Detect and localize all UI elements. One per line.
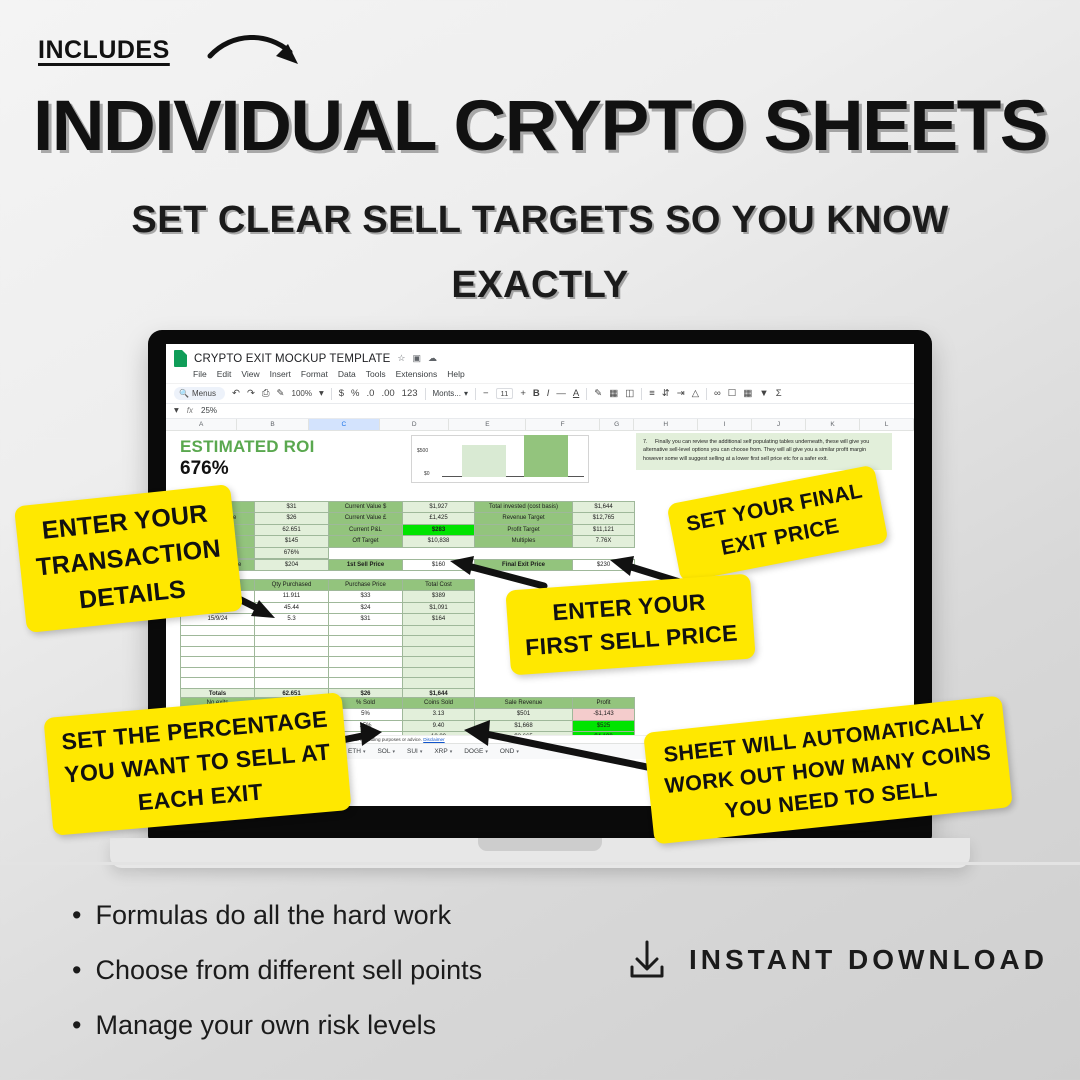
col-qty-purchased: Qty Purchased — [255, 579, 329, 591]
stat-value-multiples[interactable]: 7.76X — [573, 536, 635, 548]
menu-extensions[interactable]: Extensions — [396, 369, 438, 379]
tab-chevron-down-icon[interactable]: ▾ — [392, 749, 395, 755]
tx-cost-1: $389 — [403, 591, 475, 603]
exit-revenue-1: $501 — [475, 709, 573, 721]
column-header-h[interactable]: H — [634, 419, 698, 430]
column-header-a[interactable]: A — [166, 419, 237, 430]
tab-chevron-down-icon[interactable]: ▾ — [485, 749, 488, 755]
toolbar-divider — [331, 388, 332, 400]
toolbar-divider-2 — [425, 388, 426, 400]
col-profit: Profit — [573, 697, 635, 709]
menus-search-button[interactable]: 🔍 Menus — [174, 387, 225, 400]
col-total-cost: Total Cost — [403, 579, 475, 591]
stat-value-revenue-target[interactable]: $12,765 — [573, 513, 635, 525]
exit-coins-1: 3.13 — [403, 709, 475, 721]
functions-icon[interactable]: Σ — [776, 389, 782, 399]
decrease-decimal-icon[interactable]: .0 — [367, 389, 375, 399]
name-box-chevron-down-icon[interactable]: ▾ — [174, 406, 179, 416]
currency-icon[interactable]: $ — [339, 389, 344, 399]
instructions-note: 7. Finally you can review the additional… — [636, 433, 892, 471]
table-row[interactable]: Live Price $31 Current Value $ $1,927 To… — [181, 501, 635, 513]
stat-value-current-value-gbp[interactable]: £1,425 — [403, 513, 475, 525]
estimated-roi-value: 676% — [180, 458, 315, 480]
cloud-icon[interactable]: ☁ — [428, 353, 437, 364]
fx-icon: fx — [187, 406, 193, 415]
undo-icon[interactable]: ↶ — [232, 389, 240, 399]
download-icon — [625, 938, 669, 982]
menu-format[interactable]: Format — [301, 369, 328, 379]
stat-label-profit-target: Profit Target — [475, 524, 573, 536]
formula-input[interactable]: 25% — [201, 406, 217, 415]
toolbar-divider-4 — [586, 388, 587, 400]
paint-format-icon[interactable]: ✎ — [277, 389, 285, 399]
number-format-icon[interactable]: 123 — [402, 389, 418, 399]
stat-label-off-target: Off Target — [329, 536, 403, 548]
includes-row: INCLUDES — [38, 36, 438, 92]
laptop-notch — [478, 838, 602, 851]
average-sell-price-value[interactable]: $204 — [255, 559, 329, 571]
sheets-titlebar: CRYPTO EXIT MOCKUP TEMPLATE ☆ ▣ ☁ — [166, 344, 914, 368]
subtitle-line-1: SET CLEAR SELL TARGETS SO YOU KNOW EXACT… — [40, 188, 1040, 319]
table-row[interactable] — [181, 646, 475, 657]
table-row[interactable]: Qty Total 62.651 Current P&L $283 Profit… — [181, 524, 635, 536]
document-title[interactable]: CRYPTO EXIT MOCKUP TEMPLATE — [194, 353, 390, 365]
chart-ytick-500: $500 — [417, 448, 428, 454]
menu-edit[interactable]: Edit — [217, 369, 232, 379]
percent-icon[interactable]: % — [351, 389, 359, 399]
table-row[interactable]: Est ROI 676% — [181, 547, 635, 559]
table-row[interactable]: Avg Buy Price $26 Current Value £ £1,425… — [181, 513, 635, 525]
table-row[interactable] — [181, 636, 475, 647]
list-item: • Formulas do all the hard work — [72, 900, 482, 931]
table-row[interactable] — [181, 678, 475, 689]
tab-chevron-down-icon[interactable]: ▾ — [516, 749, 519, 755]
bullet-dot-icon: • — [72, 902, 81, 929]
font-size-input[interactable]: 11 — [496, 388, 514, 399]
estimated-roi-label: ESTIMATED ROI — [180, 437, 315, 457]
table-row[interactable] — [181, 657, 475, 668]
curved-arrow-icon — [206, 30, 316, 80]
zoom-chevron-down-icon[interactable]: ▾ — [319, 389, 324, 399]
first-sell-price-input[interactable]: $160 — [403, 559, 475, 571]
stat-label-total-invested: Total invested (cost basis) — [475, 501, 573, 513]
column-header-f[interactable]: F — [526, 419, 599, 430]
sheet-tab-doge[interactable]: DOGE▾ — [464, 748, 488, 755]
stat-value-qty-total[interactable]: 62.651 — [255, 524, 329, 536]
table-row[interactable] — [181, 625, 475, 636]
benefit-text-3: Manage your own risk levels — [95, 1010, 436, 1041]
col-purchase-price: Purchase Price — [329, 579, 403, 591]
star-icon[interactable]: ☆ — [397, 353, 405, 364]
stat-value-current-pl[interactable]: $283 — [403, 524, 475, 536]
stat-value-est-roi[interactable]: 676% — [255, 547, 329, 559]
stat-label-current-value-gbp: Current Value £ — [329, 513, 403, 525]
column-header-b[interactable]: B — [237, 419, 308, 430]
chart-bar-target — [524, 435, 568, 477]
stat-label-multiples: Multiples — [475, 536, 573, 548]
sheet-tab-sui[interactable]: SUI▾ — [407, 748, 422, 755]
callout-enter-transaction-details: ENTER YOUR TRANSACTION DETAILS — [14, 484, 243, 633]
note-text: Finally you can review the additional se… — [643, 439, 869, 463]
tx-cost-3: $164 — [403, 614, 475, 626]
col-sale-revenue: Sale Revenue — [475, 697, 573, 709]
tx-price-2[interactable]: $24 — [329, 602, 403, 614]
text-rotation-icon[interactable]: △ — [692, 389, 699, 399]
move-icon[interactable]: ▣ — [412, 353, 421, 364]
column-header-e[interactable]: E — [449, 419, 526, 430]
stat-value-current-value-usd[interactable]: $1,927 — [403, 501, 475, 513]
tx-qty-3[interactable]: 5.3 — [255, 614, 329, 626]
table-row[interactable]: Previous ATH $145 Off Target $10,838 Mul… — [181, 536, 635, 548]
toolbar-divider-6 — [706, 388, 707, 400]
exit-revenue-2: $1,668 — [475, 720, 573, 732]
text-color-icon[interactable]: A — [573, 389, 579, 399]
benefits-list: • Formulas do all the hard work • Choose… — [72, 900, 482, 1065]
column-header-k[interactable]: K — [806, 419, 860, 430]
column-header-c[interactable]: C — [309, 419, 380, 430]
tab-chevron-down-icon[interactable]: ▾ — [363, 749, 366, 755]
roi-bar-chart[interactable]: $500 $0 — [411, 435, 589, 483]
tx-price-1[interactable]: $33 — [329, 591, 403, 603]
column-header-l[interactable]: L — [860, 419, 914, 430]
col-coins-sold: Coins Sold — [403, 697, 475, 709]
column-header-j[interactable]: J — [752, 419, 806, 430]
chart-bar-invested — [462, 445, 506, 477]
bullet-dot-icon: • — [72, 1012, 81, 1039]
stat-value-off-target[interactable]: $10,838 — [403, 536, 475, 548]
search-icon: 🔍 — [179, 389, 189, 398]
toolbar-divider-3 — [475, 388, 476, 400]
benefit-text-1: Formulas do all the hard work — [95, 900, 451, 931]
menu-help[interactable]: Help — [447, 369, 464, 379]
font-family-select[interactable]: Monts... ▾ — [433, 389, 468, 398]
includes-label: INCLUDES — [38, 36, 170, 65]
increase-font-size-button[interactable]: + — [520, 389, 526, 399]
menu-insert[interactable]: Insert — [270, 369, 291, 379]
table-row[interactable]: Average sell price $204 1st Sell Price $… — [181, 559, 635, 571]
vertical-align-icon[interactable]: ⇵ — [662, 389, 670, 399]
benefit-text-2: Choose from different sell points — [95, 955, 482, 986]
column-header-d[interactable]: D — [380, 419, 449, 430]
column-headers: A B C D E F G H I J K L — [166, 419, 914, 431]
text-wrap-icon[interactable]: ⇥ — [677, 389, 685, 399]
stat-value-avg-buy-price[interactable]: $26 — [255, 513, 329, 525]
sheet-tab-eth[interactable]: ETH▾ — [348, 748, 366, 755]
instant-download-badge: INSTANT DOWNLOAD — [625, 938, 1048, 982]
menu-view[interactable]: View — [241, 369, 259, 379]
note-number: 7. — [643, 438, 655, 447]
redo-icon[interactable]: ↷ — [247, 389, 255, 399]
font-chevron-down-icon: ▾ — [464, 389, 468, 398]
zoom-level[interactable]: 100% — [292, 389, 312, 398]
borders-icon[interactable]: ▦ — [609, 389, 618, 399]
tx-price-3[interactable]: $31 — [329, 614, 403, 626]
table-row[interactable]: 15/9/24 5.3 $31 $164 — [181, 614, 475, 626]
fill-color-icon[interactable]: ✎ — [594, 389, 602, 399]
stat-value-profit-target[interactable]: $11,121 — [573, 524, 635, 536]
sheet-tab-ond[interactable]: OND▾ — [500, 748, 519, 755]
chart-ytick-0: $0 — [424, 471, 430, 477]
menu-file[interactable]: File — [193, 369, 207, 379]
italic-icon[interactable]: I — [547, 389, 550, 399]
stat-label-current-value-usd: Current Value $ — [329, 501, 403, 513]
sheets-logo-icon — [174, 350, 187, 367]
filter-icon[interactable]: ▼ — [759, 389, 768, 399]
tab-chevron-down-icon[interactable]: ▾ — [420, 749, 423, 755]
list-item: • Choose from different sell points — [72, 955, 482, 986]
decrease-font-size-button[interactable]: − — [483, 389, 489, 399]
insert-link-icon[interactable]: ∞ — [714, 389, 721, 399]
callout-enter-first-sell-price: ENTER YOUR FIRST SELL PRICE — [505, 574, 755, 676]
summary-stats-table[interactable]: Live Price $31 Current Value $ $1,927 To… — [180, 501, 635, 560]
first-sell-price-label: 1st Sell Price — [329, 559, 403, 571]
menus-search-label: Menus — [192, 389, 216, 398]
exit-coins-2: 9.40 — [403, 720, 475, 732]
list-item: • Manage your own risk levels — [72, 1010, 482, 1041]
tab-chevron-down-icon[interactable]: ▾ — [450, 749, 453, 755]
exit-profit-2: $525 — [573, 720, 635, 732]
page-title: INDIVIDUAL CRYPTO SHEETS — [0, 86, 1080, 167]
table-row[interactable] — [181, 667, 475, 678]
final-exit-price-label: Final Exit Price — [475, 559, 573, 571]
stat-value-live-price[interactable]: $31 — [255, 501, 329, 513]
menu-tools[interactable]: Tools — [366, 369, 386, 379]
tx-qty-1[interactable]: 11.911 — [255, 591, 329, 603]
increase-decimal-icon[interactable]: .00 — [381, 389, 394, 399]
final-exit-price-input[interactable]: $230 — [573, 559, 635, 571]
stat-value-total-invested[interactable]: $1,644 — [573, 501, 635, 513]
bullet-dot-icon: • — [72, 957, 81, 984]
font-family-label: Monts... — [433, 389, 461, 398]
tx-cost-2: $1,091 — [403, 602, 475, 614]
sell-price-row[interactable]: Average sell price $204 1st Sell Price $… — [180, 559, 635, 572]
tx-qty-2[interactable]: 45.44 — [255, 602, 329, 614]
print-icon[interactable]: ⎙ — [262, 389, 270, 399]
column-header-i[interactable]: I — [698, 419, 752, 430]
horizontal-align-icon[interactable]: ≡ — [649, 389, 655, 399]
sheet-tab-sol[interactable]: SOL▾ — [377, 748, 395, 755]
formula-bar: ▾ fx 25% — [166, 404, 914, 419]
insert-comment-icon[interactable]: ☐ — [728, 389, 737, 399]
sheets-menubar: File Edit View Insert Format Data Tools … — [166, 368, 914, 383]
exit-profit-1: -$1,143 — [573, 709, 635, 721]
disclaimer-link[interactable]: Disclaimer — [423, 737, 444, 742]
bold-icon[interactable]: B — [533, 389, 540, 399]
insert-chart-icon[interactable]: ▦ — [743, 389, 752, 399]
desk-surface-line — [0, 862, 1080, 865]
sheet-tab-xrp[interactable]: XRP▾ — [434, 748, 452, 755]
strikethrough-icon[interactable]: ― — [556, 389, 566, 399]
stat-value-previous-ath[interactable]: $145 — [255, 536, 329, 548]
merge-cells-icon[interactable]: ◫ — [625, 389, 634, 399]
estimated-roi-panel: ESTIMATED ROI 676% — [180, 437, 315, 480]
toolbar-divider-5 — [641, 388, 642, 400]
stat-label-current-pl: Current P&L — [329, 524, 403, 536]
column-header-g[interactable]: G — [600, 419, 635, 430]
sheets-toolbar: 🔍 Menus ↶ ↷ ⎙ ✎ 100% ▾ $ % .0 .00 123 Mo… — [166, 383, 914, 404]
stat-label-revenue-target: Revenue Target — [475, 513, 573, 525]
instant-download-label: INSTANT DOWNLOAD — [689, 944, 1048, 976]
menu-data[interactable]: Data — [338, 369, 356, 379]
